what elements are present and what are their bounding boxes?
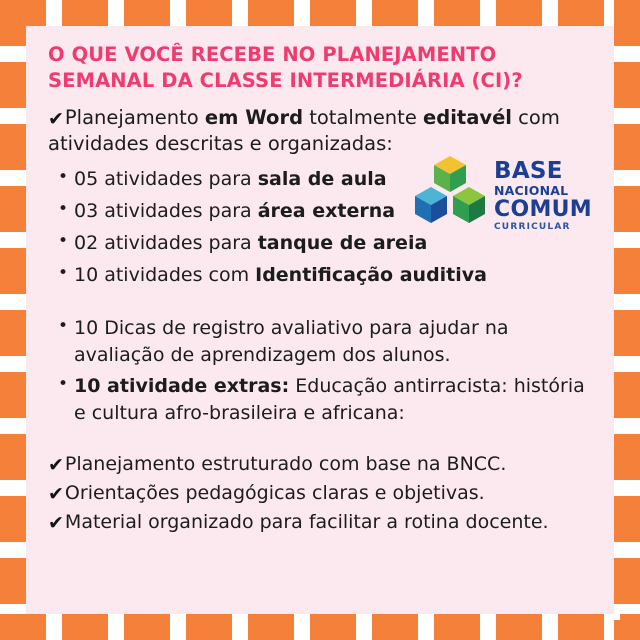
border-right: [614, 0, 640, 640]
list-item: 03 atividades para área externa: [74, 198, 592, 225]
check-icon: ✔: [48, 514, 64, 533]
border-dash: [434, 614, 480, 640]
check-icon: ✔: [48, 110, 64, 129]
border-dash: [614, 620, 640, 640]
border-left: [0, 0, 26, 640]
border-dash: [614, 124, 640, 170]
border-dash: [496, 614, 542, 640]
border-dash: [310, 0, 356, 26]
border-dash: [614, 558, 640, 604]
intro-bold-1: em Word: [205, 106, 303, 129]
border-dash: [310, 614, 356, 640]
border-dash: [248, 614, 294, 640]
border-dash: [62, 614, 108, 640]
content-card: O QUE VOCÊ RECEBE NO PLANEJAMENTO SEMANA…: [26, 26, 614, 614]
check-list-item: ✔Material organizado para facilitar a ro…: [48, 509, 592, 536]
list-item: 02 atividades para tanque de areia: [74, 230, 592, 257]
border-dash: [0, 248, 26, 294]
intro-text-1: Planejamento: [65, 106, 205, 129]
check-list-item: ✔Planejamento estruturado com base na BN…: [48, 451, 592, 478]
border-dash: [614, 186, 640, 232]
border-dash: [614, 248, 640, 294]
border-dash: [0, 62, 26, 108]
list-item-emphasis: 10 atividade extras:: [74, 375, 289, 397]
border-dash: [62, 0, 108, 26]
border-dash: [372, 0, 418, 26]
secondary-activity-list: 10 Dicas de registro avaliativo para aju…: [48, 315, 592, 427]
border-dash: [0, 124, 26, 170]
border-dash: [0, 0, 26, 46]
list-item: 10 atividade extras: Educação antirracis…: [74, 373, 592, 427]
border-dash: [0, 496, 26, 542]
border-dash: [614, 310, 640, 356]
intro-paragraph: ✔Planejamento em Word totalmente editavé…: [48, 105, 592, 156]
list-item-text: 10 Dicas de registro avaliativo para aju…: [74, 317, 509, 366]
border-top: [0, 0, 640, 26]
border-dash: [124, 614, 170, 640]
intro-bold-2: editavél: [423, 106, 512, 129]
check-list-text: Planejamento estruturado com base na BNC…: [65, 453, 506, 475]
list-item-emphasis: tanque de areia: [258, 232, 428, 254]
page-title: O QUE VOCÊ RECEBE NO PLANEJAMENTO SEMANA…: [48, 42, 592, 94]
border-dash: [496, 0, 542, 26]
border-dash: [614, 62, 640, 108]
list-item-emphasis: Identificação auditiva: [255, 264, 487, 286]
list-item-text: 05 atividades para: [74, 168, 258, 190]
page: O QUE VOCÊ RECEBE NO PLANEJAMENTO SEMANA…: [0, 0, 640, 640]
list-item-text: 03 atividades para: [74, 200, 258, 222]
border-dash: [558, 0, 604, 26]
list-item-text: 02 atividades para: [74, 232, 258, 254]
list-item-emphasis: área externa: [258, 200, 395, 222]
border-dash: [372, 614, 418, 640]
border-dash: [614, 434, 640, 480]
border-dash: [0, 620, 26, 640]
list-item: 10 Dicas de registro avaliativo para aju…: [74, 315, 592, 369]
border-dash: [124, 0, 170, 26]
border-dash: [0, 310, 26, 356]
border-dash: [0, 434, 26, 480]
border-dash: [558, 614, 604, 640]
check-list-item: ✔Orientações pedagógicas claras e objeti…: [48, 480, 592, 507]
border-dash: [0, 186, 26, 232]
check-list-text: Material organizado para facilitar a rot…: [65, 511, 549, 533]
border-dash: [0, 558, 26, 604]
benefits-check-list: ✔Planejamento estruturado com base na BN…: [48, 451, 592, 536]
list-item: 05 atividades para sala de aula: [74, 166, 592, 193]
list-item-text: 10 atividades com: [74, 264, 255, 286]
border-dash: [434, 0, 480, 26]
list-item: 10 atividades com Identificação auditiva: [74, 262, 592, 289]
check-icon: ✔: [48, 485, 64, 504]
list-item-emphasis: sala de aula: [258, 168, 387, 190]
check-icon: ✔: [48, 456, 64, 475]
border-bottom: [0, 614, 640, 640]
border-dash: [614, 372, 640, 418]
check-list-text: Orientações pedagógicas claras e objetiv…: [65, 482, 485, 504]
border-dash: [248, 0, 294, 26]
border-dash: [186, 0, 232, 26]
border-dash: [0, 372, 26, 418]
border-dash: [614, 496, 640, 542]
border-dash: [186, 614, 232, 640]
intro-text-2: totalmente: [303, 106, 423, 129]
border-dash: [614, 0, 640, 46]
